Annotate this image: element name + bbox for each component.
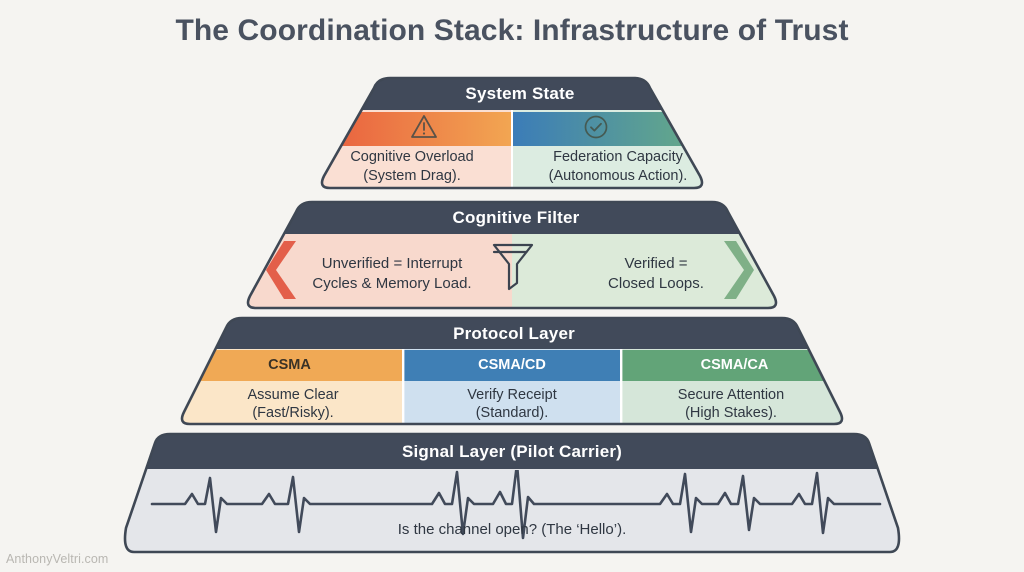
cell-federation-capacity-line1: Federation Capacity [512,148,724,167]
tier-title-system-state: System State [300,85,740,102]
cell-csma-desc: Assume Clear (Fast/Risky). [184,386,402,422]
cell-verified-line2: Closed Loops. [586,274,726,294]
cell-cognitive-overload-line1: Cognitive Overload [312,148,512,167]
signal-layer-caption: Is the channel open? (The ‘Hello’). [124,521,900,540]
tier-title-signal-layer: Signal Layer (Pilot Carrier) [124,443,900,460]
cell-csma-desc-line1: Assume Clear [184,386,402,404]
column-header-csma-cd: CSMA/CD [403,358,621,373]
cell-verified-line1: Verified = [586,254,726,274]
cell-unverified: Unverified = Interrupt Cycles & Memory L… [296,254,488,293]
column-header-csma: CSMA [176,358,403,373]
cell-federation-capacity-line2: (Autonomous Action). [512,167,724,186]
cell-unverified-line2: Cycles & Memory Load. [296,274,488,294]
cell-csma-ca-desc: Secure Attention (High Stakes). [621,386,841,422]
watermark: AnthonyVeltri.com [6,552,108,566]
diagram-canvas: The Coordination Stack: Infrastructure o… [0,0,1024,572]
cell-unverified-line1: Unverified = Interrupt [296,254,488,274]
cell-csma-desc-line2: (Fast/Risky). [184,404,402,422]
cell-csma-ca-desc-line2: (High Stakes). [621,404,841,422]
cell-csma-ca-desc-line1: Secure Attention [621,386,841,404]
cell-csma-cd-desc: Verify Receipt (Standard). [403,386,621,422]
cell-cognitive-overload: Cognitive Overload (System Drag). [312,148,512,185]
column-header-csma-ca: CSMA/CA [621,358,848,373]
cell-verified: Verified = Closed Loops. [586,254,726,293]
cell-csma-cd-desc-line2: (Standard). [403,404,621,422]
cell-federation-capacity: Federation Capacity (Autonomous Action). [512,148,724,185]
tier-title-cognitive-filter: Cognitive Filter [244,209,788,226]
cell-cognitive-overload-line2: (System Drag). [312,167,512,186]
tier-title-protocol-layer: Protocol Layer [180,325,848,342]
cell-csma-cd-desc-line1: Verify Receipt [403,386,621,404]
